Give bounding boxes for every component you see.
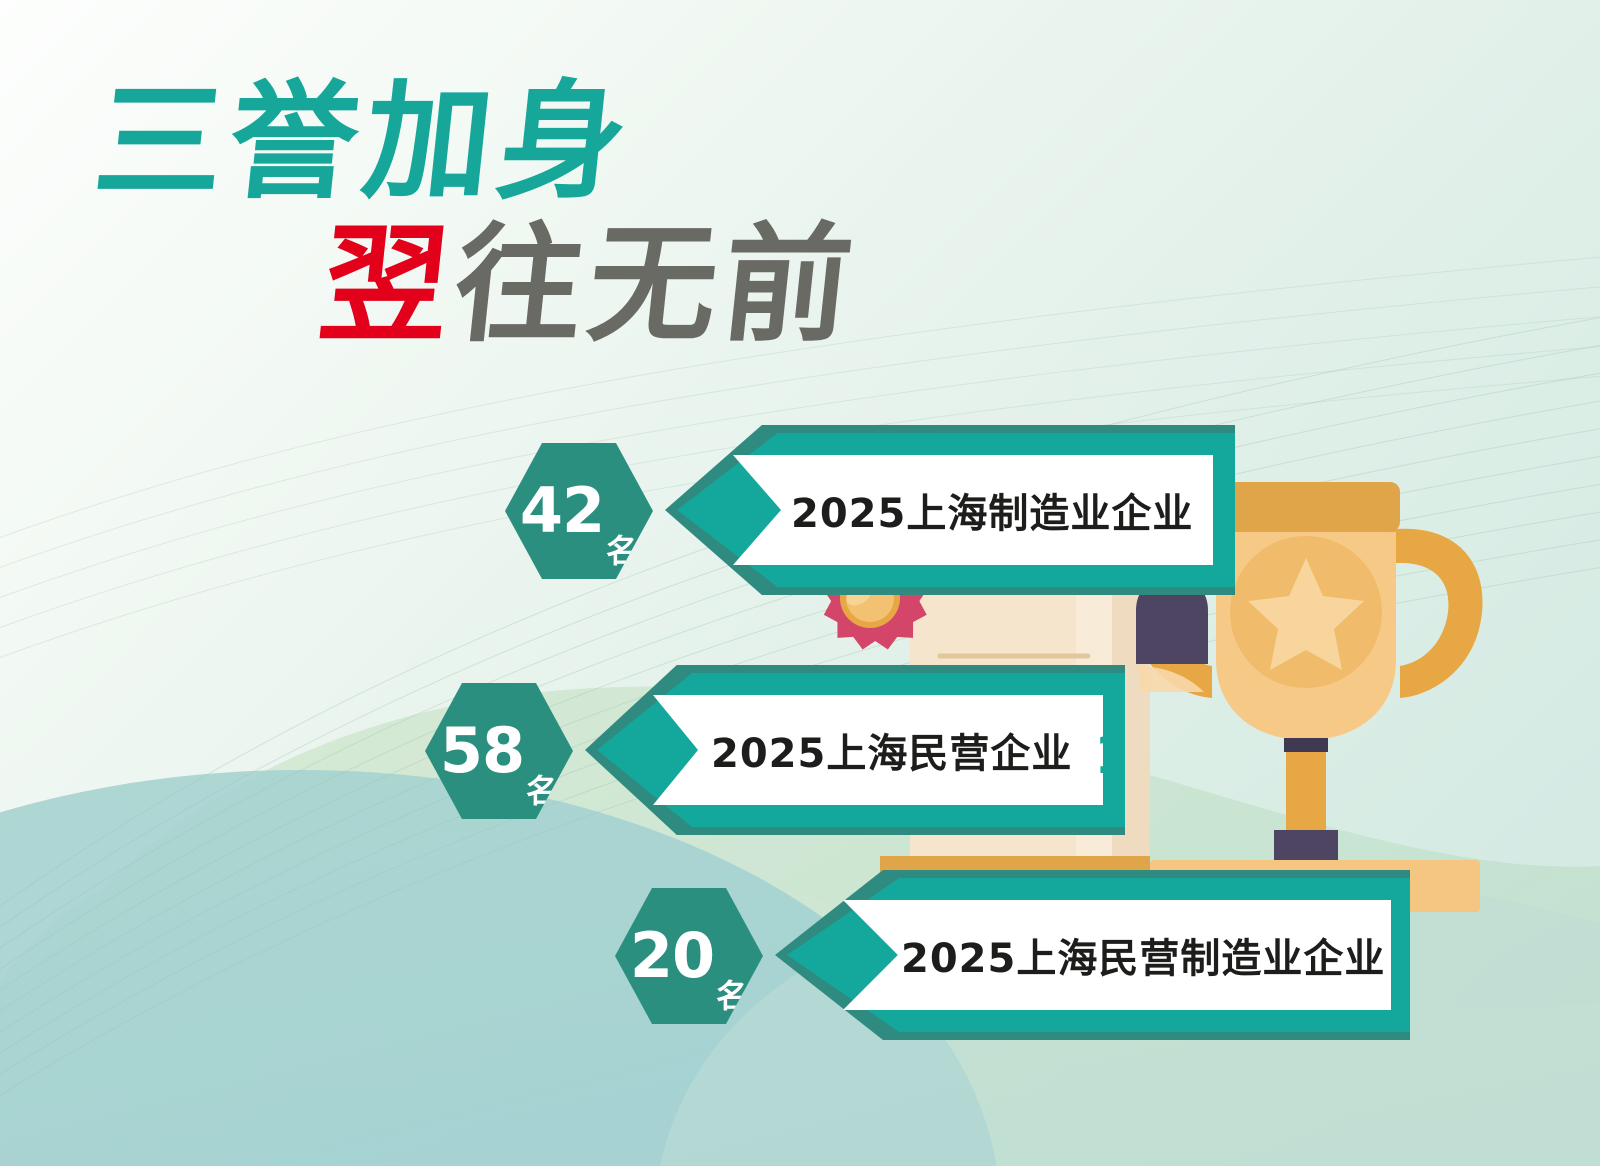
rank-hexagon-badge: 42 名 [505, 443, 653, 579]
award-chevron: 2025上海民营企业 100强 [585, 665, 1125, 835]
award-title: 2025上海民营制造业企业 [901, 926, 1385, 984]
rank-unit: 名 [606, 535, 638, 567]
rank-number: 20 [630, 925, 714, 987]
award-title: 2025上海民营企业 [711, 721, 1072, 779]
award-banner: 2025上海制造业企业 100强 [733, 455, 1213, 565]
poster-canvas: 三誉加身 翌往无前 [0, 0, 1600, 1166]
award-chevron: 2025上海制造业企业 100强 [665, 425, 1235, 595]
rank-hexagon-badge: 58 名 [425, 683, 573, 819]
award-row: 20 名 2025上海民营制造业企业 100强 [615, 870, 1410, 1040]
rank-hexagon-badge: 20 名 [615, 888, 763, 1024]
poster-title: 三誉加身 翌往无前 [96, 78, 996, 351]
award-chevron: 2025上海民营制造业企业 100强 [775, 870, 1410, 1040]
award-title: 2025上海制造业企业 [791, 481, 1193, 539]
rank-unit: 名 [716, 980, 748, 1012]
title-line-2-rest: 往无前 [447, 211, 865, 360]
title-line-2: 翌往无前 [314, 221, 1003, 352]
award-row: 42 名 2025上海制造业企业 100强 [505, 425, 1235, 595]
title-line-1: 三誉加身 [89, 78, 1003, 209]
award-row: 58 名 2025上海民营企业 100强 [425, 665, 1125, 835]
trophy-rim [1212, 482, 1400, 532]
award-banner: 2025上海民营制造业企业 100强 [843, 900, 1391, 1010]
title-accent-character: 翌 [313, 211, 463, 360]
trophy-stem-collar [1284, 738, 1328, 752]
rank-number: 58 [440, 720, 524, 782]
award-banner: 2025上海民营企业 100强 [653, 695, 1103, 805]
rank-unit: 名 [526, 775, 558, 807]
rank-number: 42 [520, 480, 604, 542]
